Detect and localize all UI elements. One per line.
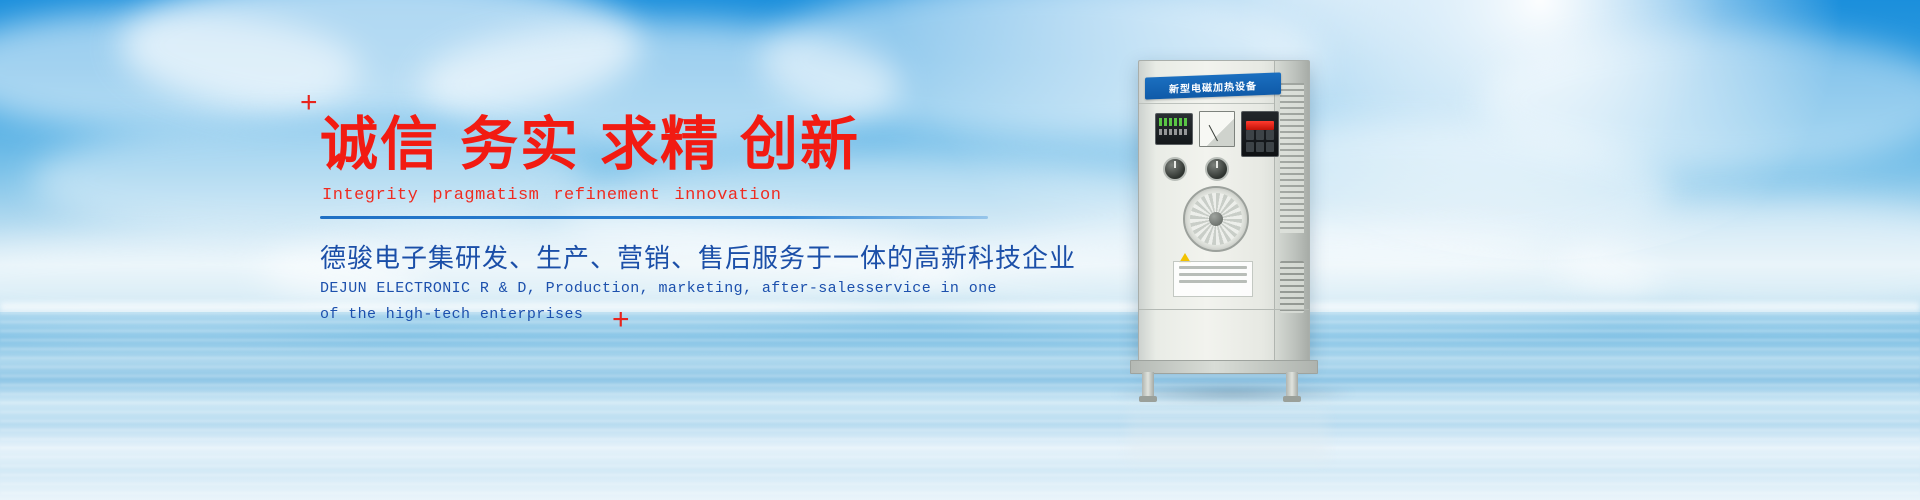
label-line	[1179, 280, 1247, 283]
machine-foot	[1139, 396, 1157, 402]
digital-display	[1155, 113, 1193, 145]
hero-banner: + + 诚信务实求精创新 Integritypragmatismrefineme…	[0, 0, 1920, 500]
plus-decoration-icon: +	[300, 88, 318, 118]
product-image-heating-equipment: 新型电磁加热设备	[1120, 60, 1340, 390]
display-segment	[1159, 118, 1189, 126]
keypad-button	[1246, 142, 1254, 152]
headline-chinese: 诚信务实求精创新	[320, 115, 860, 173]
description-english-line: of the high-tech enterprises	[320, 302, 997, 328]
headline-en-word: innovation	[674, 186, 781, 205]
headline-english: Integritypragmatismrefinementinnovation	[322, 186, 795, 205]
control-knob	[1205, 157, 1229, 181]
cooling-fan-icon	[1183, 186, 1249, 252]
control-knob	[1163, 157, 1187, 181]
headline-word: 诚信	[320, 110, 440, 178]
machine-name-plate-label: 新型电磁加热设备	[1169, 77, 1257, 95]
description-english-line: DEJUN ELECTRONIC R & D, Production, mark…	[320, 276, 997, 302]
keypad-button	[1246, 130, 1254, 140]
spec-label	[1173, 261, 1253, 297]
vent-grille-icon	[1280, 83, 1304, 233]
cabinet-seam	[1139, 309, 1309, 310]
vent-grille-icon	[1280, 261, 1304, 313]
machine-leg	[1142, 372, 1154, 398]
keypad-button	[1266, 130, 1274, 140]
knob-indicator-icon	[1216, 161, 1218, 168]
keypad-button	[1256, 142, 1264, 152]
label-line	[1179, 273, 1247, 276]
led-readout	[1246, 121, 1274, 130]
machine-name-plate: 新型电磁加热设备	[1145, 72, 1281, 99]
keypad	[1246, 130, 1274, 152]
water-surface	[0, 312, 1920, 500]
led-controller-panel	[1241, 111, 1279, 157]
description-english: DEJUN ELECTRONIC R & D, Production, mark…	[320, 276, 997, 328]
machine-cabinet: 新型电磁加热设备	[1138, 60, 1310, 362]
machine-leg	[1286, 372, 1298, 398]
headline-word: 求精	[600, 110, 720, 178]
description-chinese: 德骏电子集研发、生产、营销、售后服务于一体的高新科技企业	[320, 238, 1076, 275]
label-line	[1179, 266, 1247, 269]
analog-meter-gauge	[1199, 111, 1235, 147]
machine-side-vent-panel	[1274, 61, 1309, 361]
headline-word: 务实	[460, 110, 580, 178]
headline-en-word: refinement	[553, 186, 660, 205]
headline-word: 创新	[740, 110, 860, 178]
keypad-button	[1266, 142, 1274, 152]
machine-foot	[1283, 396, 1301, 402]
meter-needle-icon	[1209, 125, 1218, 141]
divider	[320, 216, 988, 219]
knob-indicator-icon	[1174, 161, 1176, 168]
keypad-button	[1256, 130, 1264, 140]
headline-en-word: Integrity	[322, 186, 418, 205]
display-segment	[1159, 129, 1189, 135]
headline-en-word: pragmatism	[432, 186, 539, 205]
